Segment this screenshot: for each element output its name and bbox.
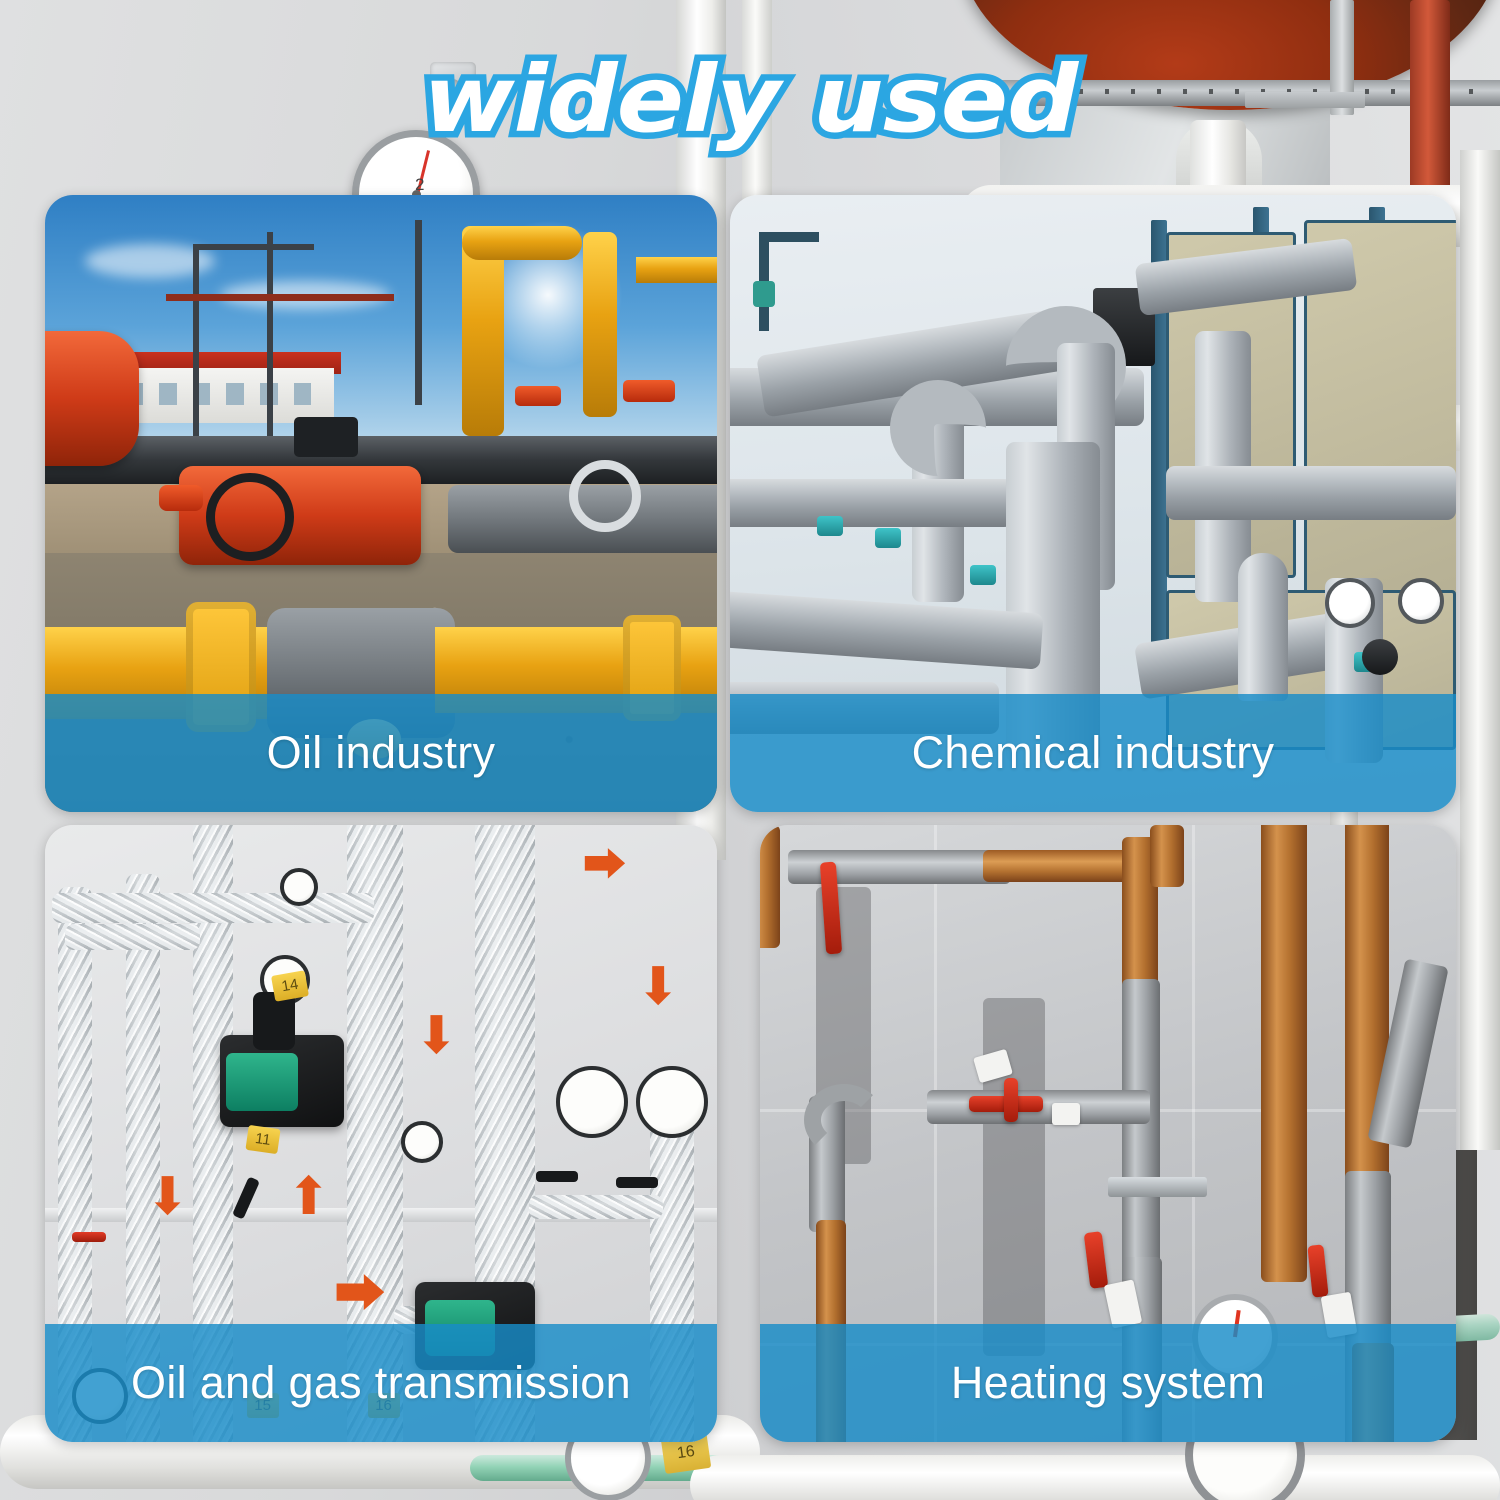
building-window bbox=[226, 383, 243, 405]
vent-arm bbox=[759, 232, 819, 242]
building-window bbox=[294, 383, 311, 405]
yellow-header bbox=[462, 226, 582, 260]
control-box bbox=[294, 417, 358, 457]
hand-wheel bbox=[569, 460, 641, 532]
gantry-beam bbox=[193, 244, 314, 250]
page-title: widely used bbox=[0, 54, 1500, 146]
pipe-elbow bbox=[890, 380, 986, 476]
flow-arrow-down-icon: ⬇ bbox=[146, 1171, 190, 1223]
pressure-gauge bbox=[556, 1066, 628, 1138]
background-bottom-pipe-right bbox=[690, 1455, 1500, 1500]
teal-valve bbox=[970, 565, 996, 585]
building-window bbox=[159, 383, 176, 405]
flow-arrow-down-icon: ⬇ bbox=[636, 961, 680, 1013]
yellow-header bbox=[636, 257, 717, 283]
teal-valve bbox=[817, 516, 843, 536]
red-overhead-pipe bbox=[166, 294, 394, 301]
panel-chemical-industry[interactable]: Chemical industry bbox=[730, 195, 1456, 812]
pipe-clamp bbox=[1157, 1177, 1207, 1197]
copper-pipe bbox=[1261, 825, 1307, 1282]
insulated-pipe-horizontal bbox=[52, 893, 375, 923]
panel-oil-and-gas-transmission[interactable]: ⬇ ⬆ ⬇ ⮕ ⮕ ⬇ 14 11 15 16 Oil and gas tran… bbox=[45, 825, 717, 1442]
teal-valve bbox=[875, 528, 901, 548]
steel-pipe-vertical bbox=[1122, 979, 1160, 1275]
red-fitting bbox=[515, 386, 561, 406]
red-vessel bbox=[45, 331, 139, 467]
gantry-post bbox=[193, 244, 199, 466]
background-pipe-column-3 bbox=[1460, 150, 1500, 1150]
yellow-riser bbox=[583, 232, 617, 417]
pipe-elbow bbox=[804, 1084, 884, 1156]
vessel bbox=[1238, 553, 1288, 701]
black-valve bbox=[1362, 639, 1398, 675]
flow-arrow-right-icon: ⮕ bbox=[334, 1269, 386, 1321]
insulated-pipe-horizontal bbox=[65, 924, 199, 950]
pipe-shadow bbox=[983, 998, 1046, 1356]
pump-body-green bbox=[226, 1053, 298, 1111]
valve-handle bbox=[616, 1177, 658, 1188]
hand-wheel bbox=[206, 473, 294, 561]
caption-bar-heating-system: Heating system bbox=[760, 1324, 1456, 1442]
copper-pipe-horizontal bbox=[983, 850, 1136, 882]
panel-oil-industry[interactable]: Oil industry bbox=[45, 195, 717, 812]
pressure-gauge bbox=[636, 1066, 708, 1138]
black-valve-body bbox=[253, 992, 295, 1050]
flow-arrow-down-icon: ⬇ bbox=[415, 1010, 459, 1062]
gantry-post bbox=[415, 220, 422, 405]
tag-11: 11 bbox=[245, 1125, 280, 1154]
insulated-pipe bbox=[1166, 466, 1456, 520]
copper-pipe bbox=[1150, 825, 1184, 887]
red-fitting bbox=[623, 380, 675, 402]
pressure-gauge bbox=[1325, 578, 1375, 628]
insulated-pipe-horizontal bbox=[529, 1195, 663, 1219]
caption-bar-oil-and-gas-transmission: Oil and gas transmission bbox=[45, 1324, 717, 1442]
red-cap bbox=[159, 485, 203, 511]
gauge-reading: 2 bbox=[415, 175, 424, 195]
caption-label: Oil industry bbox=[45, 727, 717, 779]
flow-arrow-right-icon: ⮕ bbox=[583, 844, 627, 888]
panel-heating-system[interactable]: Heating system bbox=[760, 825, 1456, 1442]
red-valve-handle bbox=[72, 1232, 106, 1242]
pressure-gauge bbox=[1398, 578, 1444, 624]
red-valve-stem bbox=[1004, 1078, 1018, 1122]
pressure-gauge bbox=[401, 1121, 443, 1163]
gantry-post bbox=[267, 232, 273, 466]
white-marker-tag bbox=[1052, 1103, 1080, 1125]
caption-label: Oil and gas transmission bbox=[45, 1357, 717, 1409]
flow-arrow-up-icon: ⬆ bbox=[287, 1171, 331, 1223]
insulated-pipe bbox=[730, 479, 1013, 527]
caption-bar-oil-industry: Oil industry bbox=[45, 694, 717, 812]
pipe-clamp bbox=[1108, 1177, 1164, 1197]
caption-label: Chemical industry bbox=[730, 727, 1456, 779]
green-fitting bbox=[753, 281, 775, 307]
copper-pipe bbox=[760, 825, 780, 948]
caption-label: Heating system bbox=[760, 1357, 1456, 1409]
caption-bar-chemical-industry: Chemical industry bbox=[730, 694, 1456, 812]
valve-handle bbox=[536, 1171, 578, 1182]
